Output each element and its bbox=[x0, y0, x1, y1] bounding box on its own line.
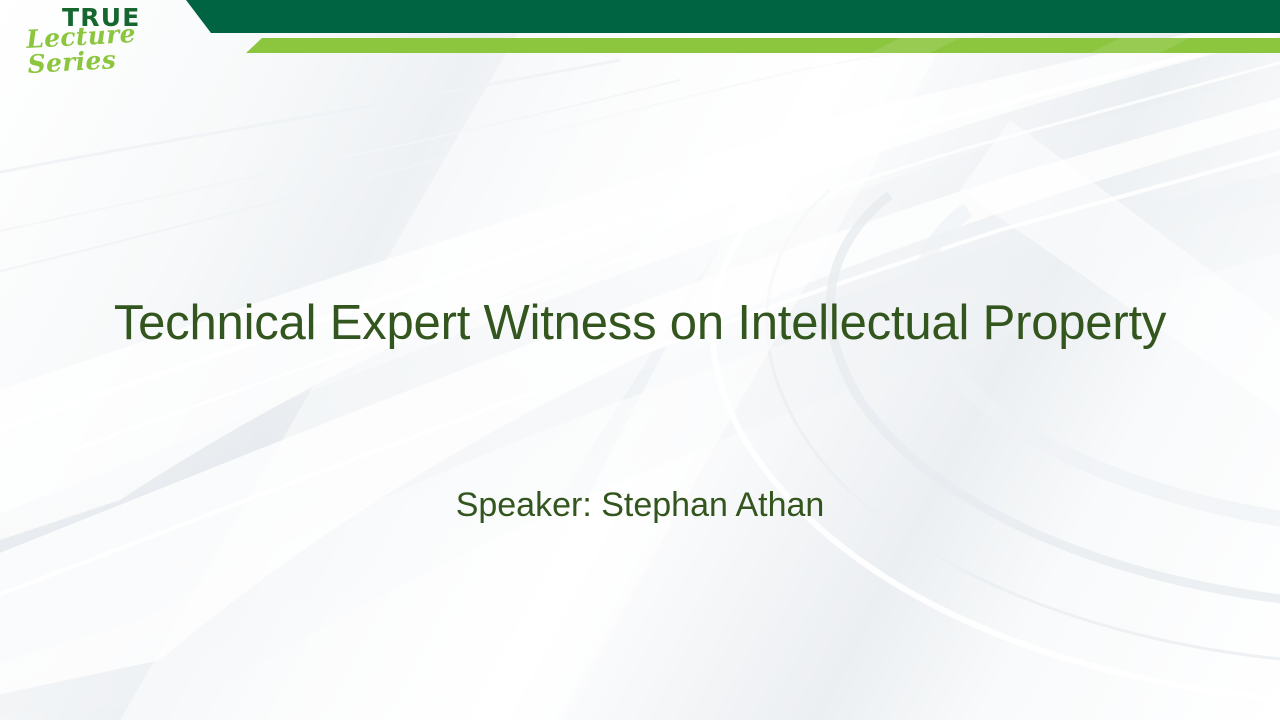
slide-subtitle-speaker: Speaker: Stephan Athan bbox=[140, 485, 1140, 526]
slide-content: Technical Expert Witness on Intellectual… bbox=[0, 0, 1280, 720]
presentation-slide: TRUE Lecture Series Technical Expert Wit… bbox=[0, 0, 1280, 720]
slide-title: Technical Expert Witness on Intellectual… bbox=[100, 292, 1180, 355]
